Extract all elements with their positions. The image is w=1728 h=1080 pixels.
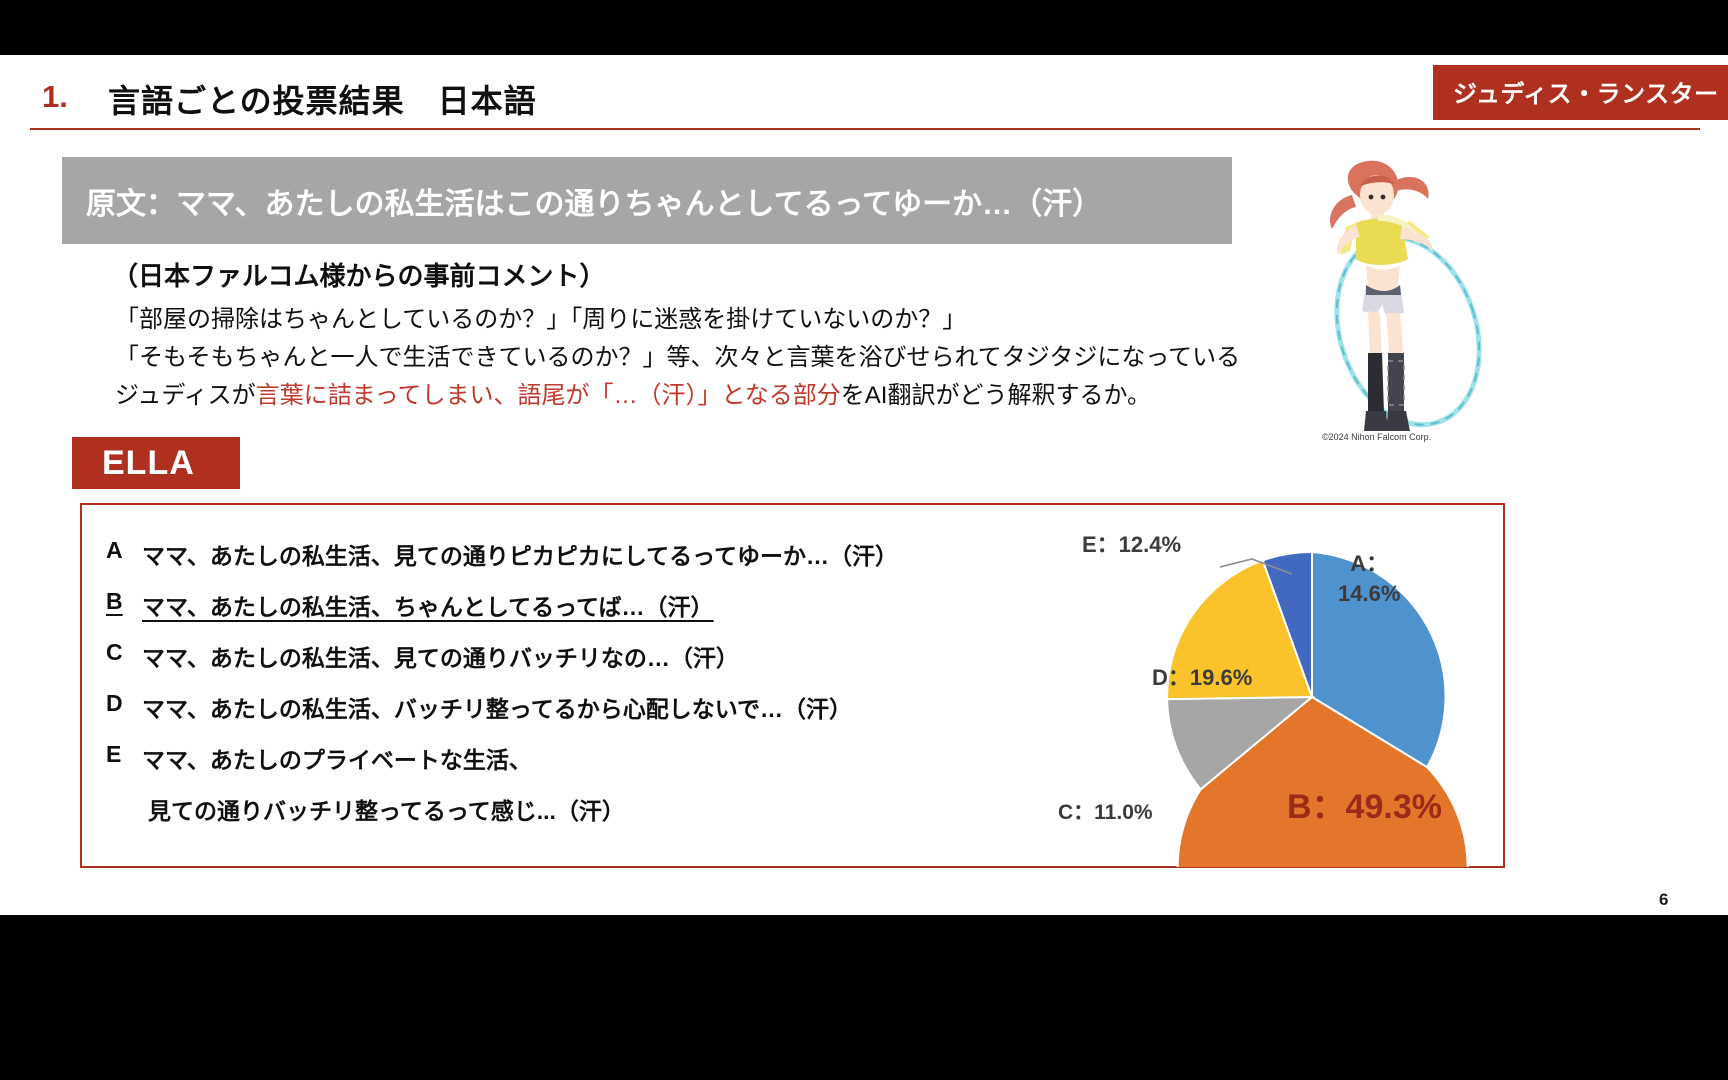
slide-number: 1. bbox=[42, 79, 68, 115]
answer-text-c: ママ、あたしの私生活、見ての通りバッチリなの…（汗） bbox=[142, 639, 739, 673]
comment-line3-prefix: ジュディスが bbox=[115, 382, 256, 409]
letterbox-top bbox=[0, 0, 1728, 55]
engine-name-badge: ELLA bbox=[72, 437, 240, 489]
answer-option-b: B ママ、あたしの私生活、ちゃんとしてるってば…（汗） bbox=[100, 588, 1060, 622]
pie-label-a-line1: A： bbox=[1338, 549, 1400, 579]
answer-text-b: ママ、あたしの私生活、ちゃんとしてるってば…（汗） bbox=[142, 588, 714, 622]
character-illustration bbox=[1282, 155, 1512, 455]
answer-key-a: A bbox=[100, 537, 142, 564]
slide-header: 1. 言語ごとの投票結果 日本語 ジュディス・ランスター bbox=[0, 55, 1728, 130]
comment-line3-suffix: をAI翻訳がどう解釈するか。 bbox=[841, 382, 1151, 409]
answer-option-e: E ママ、あたしのプライベートな生活、 bbox=[100, 741, 1060, 775]
header-divider bbox=[30, 128, 1700, 130]
answer-key-c: C bbox=[100, 639, 142, 666]
answer-text-e: ママ、あたしのプライベートな生活、 bbox=[142, 741, 532, 775]
pie-label-e: E：12.4% bbox=[1082, 527, 1181, 559]
character-name-badge: ジュディス・ランスター bbox=[1433, 65, 1728, 120]
slide-canvas: 1. 言語ごとの投票結果 日本語 ジュディス・ランスター 原文：ママ、あたしの私… bbox=[0, 55, 1728, 915]
engine-name-label: ELLA bbox=[72, 444, 195, 483]
publisher-comment-line-3: ジュディスが言葉に詰まってしまい、語尾が「…（汗）」となる部分をAI翻訳がどう解… bbox=[115, 384, 1151, 408]
pie-label-a: A： 14.6% bbox=[1338, 549, 1400, 608]
publisher-comment-line-1: 「部屋の掃除はちゃんとしているのか？」「周りに迷惑を掛けていないのか？」 bbox=[115, 308, 966, 332]
answer-text-e-continuation: 見ての通りバッチリ整ってるって感じ...（汗） bbox=[148, 792, 1060, 826]
pie-label-d: D：19.6% bbox=[1152, 660, 1252, 692]
answer-text-d: ママ、あたしの私生活、バッチリ整ってるから心配しないで…（汗） bbox=[142, 690, 852, 724]
answer-text-a: ママ、あたしの私生活、見ての通りピカピカにしてるってゆーか…（汗） bbox=[142, 537, 898, 571]
publisher-comment-line-2: 「そもそもちゃんと一人で生活できているのか？」等、次々と言葉を浴びせられてタジタ… bbox=[115, 346, 1240, 370]
results-panel: A ママ、あたしの私生活、見ての通りピカピカにしてるってゆーか…（汗） B ママ… bbox=[80, 503, 1505, 868]
answer-option-d: D ママ、あたしの私生活、バッチリ整ってるから心配しないで…（汗） bbox=[100, 690, 1060, 724]
pie-label-a-line2: 14.6% bbox=[1338, 579, 1400, 609]
page-title: 言語ごとの投票結果 日本語 bbox=[108, 76, 537, 122]
answer-key-d: D bbox=[100, 690, 142, 717]
comment-line3-highlight: 言葉に詰まってしまい、語尾が「…（汗）」となる部分 bbox=[256, 382, 841, 409]
answer-key-e: E bbox=[100, 741, 142, 768]
pie-label-b: B：49.3% bbox=[1287, 779, 1442, 828]
answer-option-list: A ママ、あたしの私生活、見ての通りピカピカにしてるってゆーか…（汗） B ママ… bbox=[100, 537, 1060, 843]
source-text-banner: 原文：ママ、あたしの私生活はこの通りちゃんとしてるってゆーか…（汗） bbox=[62, 157, 1232, 244]
letterbox-bottom bbox=[0, 915, 1728, 1080]
source-text-label: 原文：ママ、あたしの私生活はこの通りちゃんとしてるってゆーか…（汗） bbox=[62, 179, 1102, 223]
publisher-comment-heading: （日本ファルコム様からの事前コメント） bbox=[112, 256, 605, 293]
answer-key-b: B bbox=[100, 588, 142, 615]
artwork-copyright: ©2024 Nihon Falcom Corp. bbox=[1322, 432, 1431, 442]
vote-pie-chart: E：12.4% A： 14.6% D：19.6% C：11.0% B：49.3% bbox=[1042, 517, 1502, 867]
answer-option-c: C ママ、あたしの私生活、見ての通りバッチリなの…（汗） bbox=[100, 639, 1060, 673]
answer-option-a: A ママ、あたしの私生活、見ての通りピカピカにしてるってゆーか…（汗） bbox=[100, 537, 1060, 571]
pie-label-c: C：11.0% bbox=[1058, 796, 1153, 826]
page-number: 6 bbox=[1659, 890, 1668, 910]
